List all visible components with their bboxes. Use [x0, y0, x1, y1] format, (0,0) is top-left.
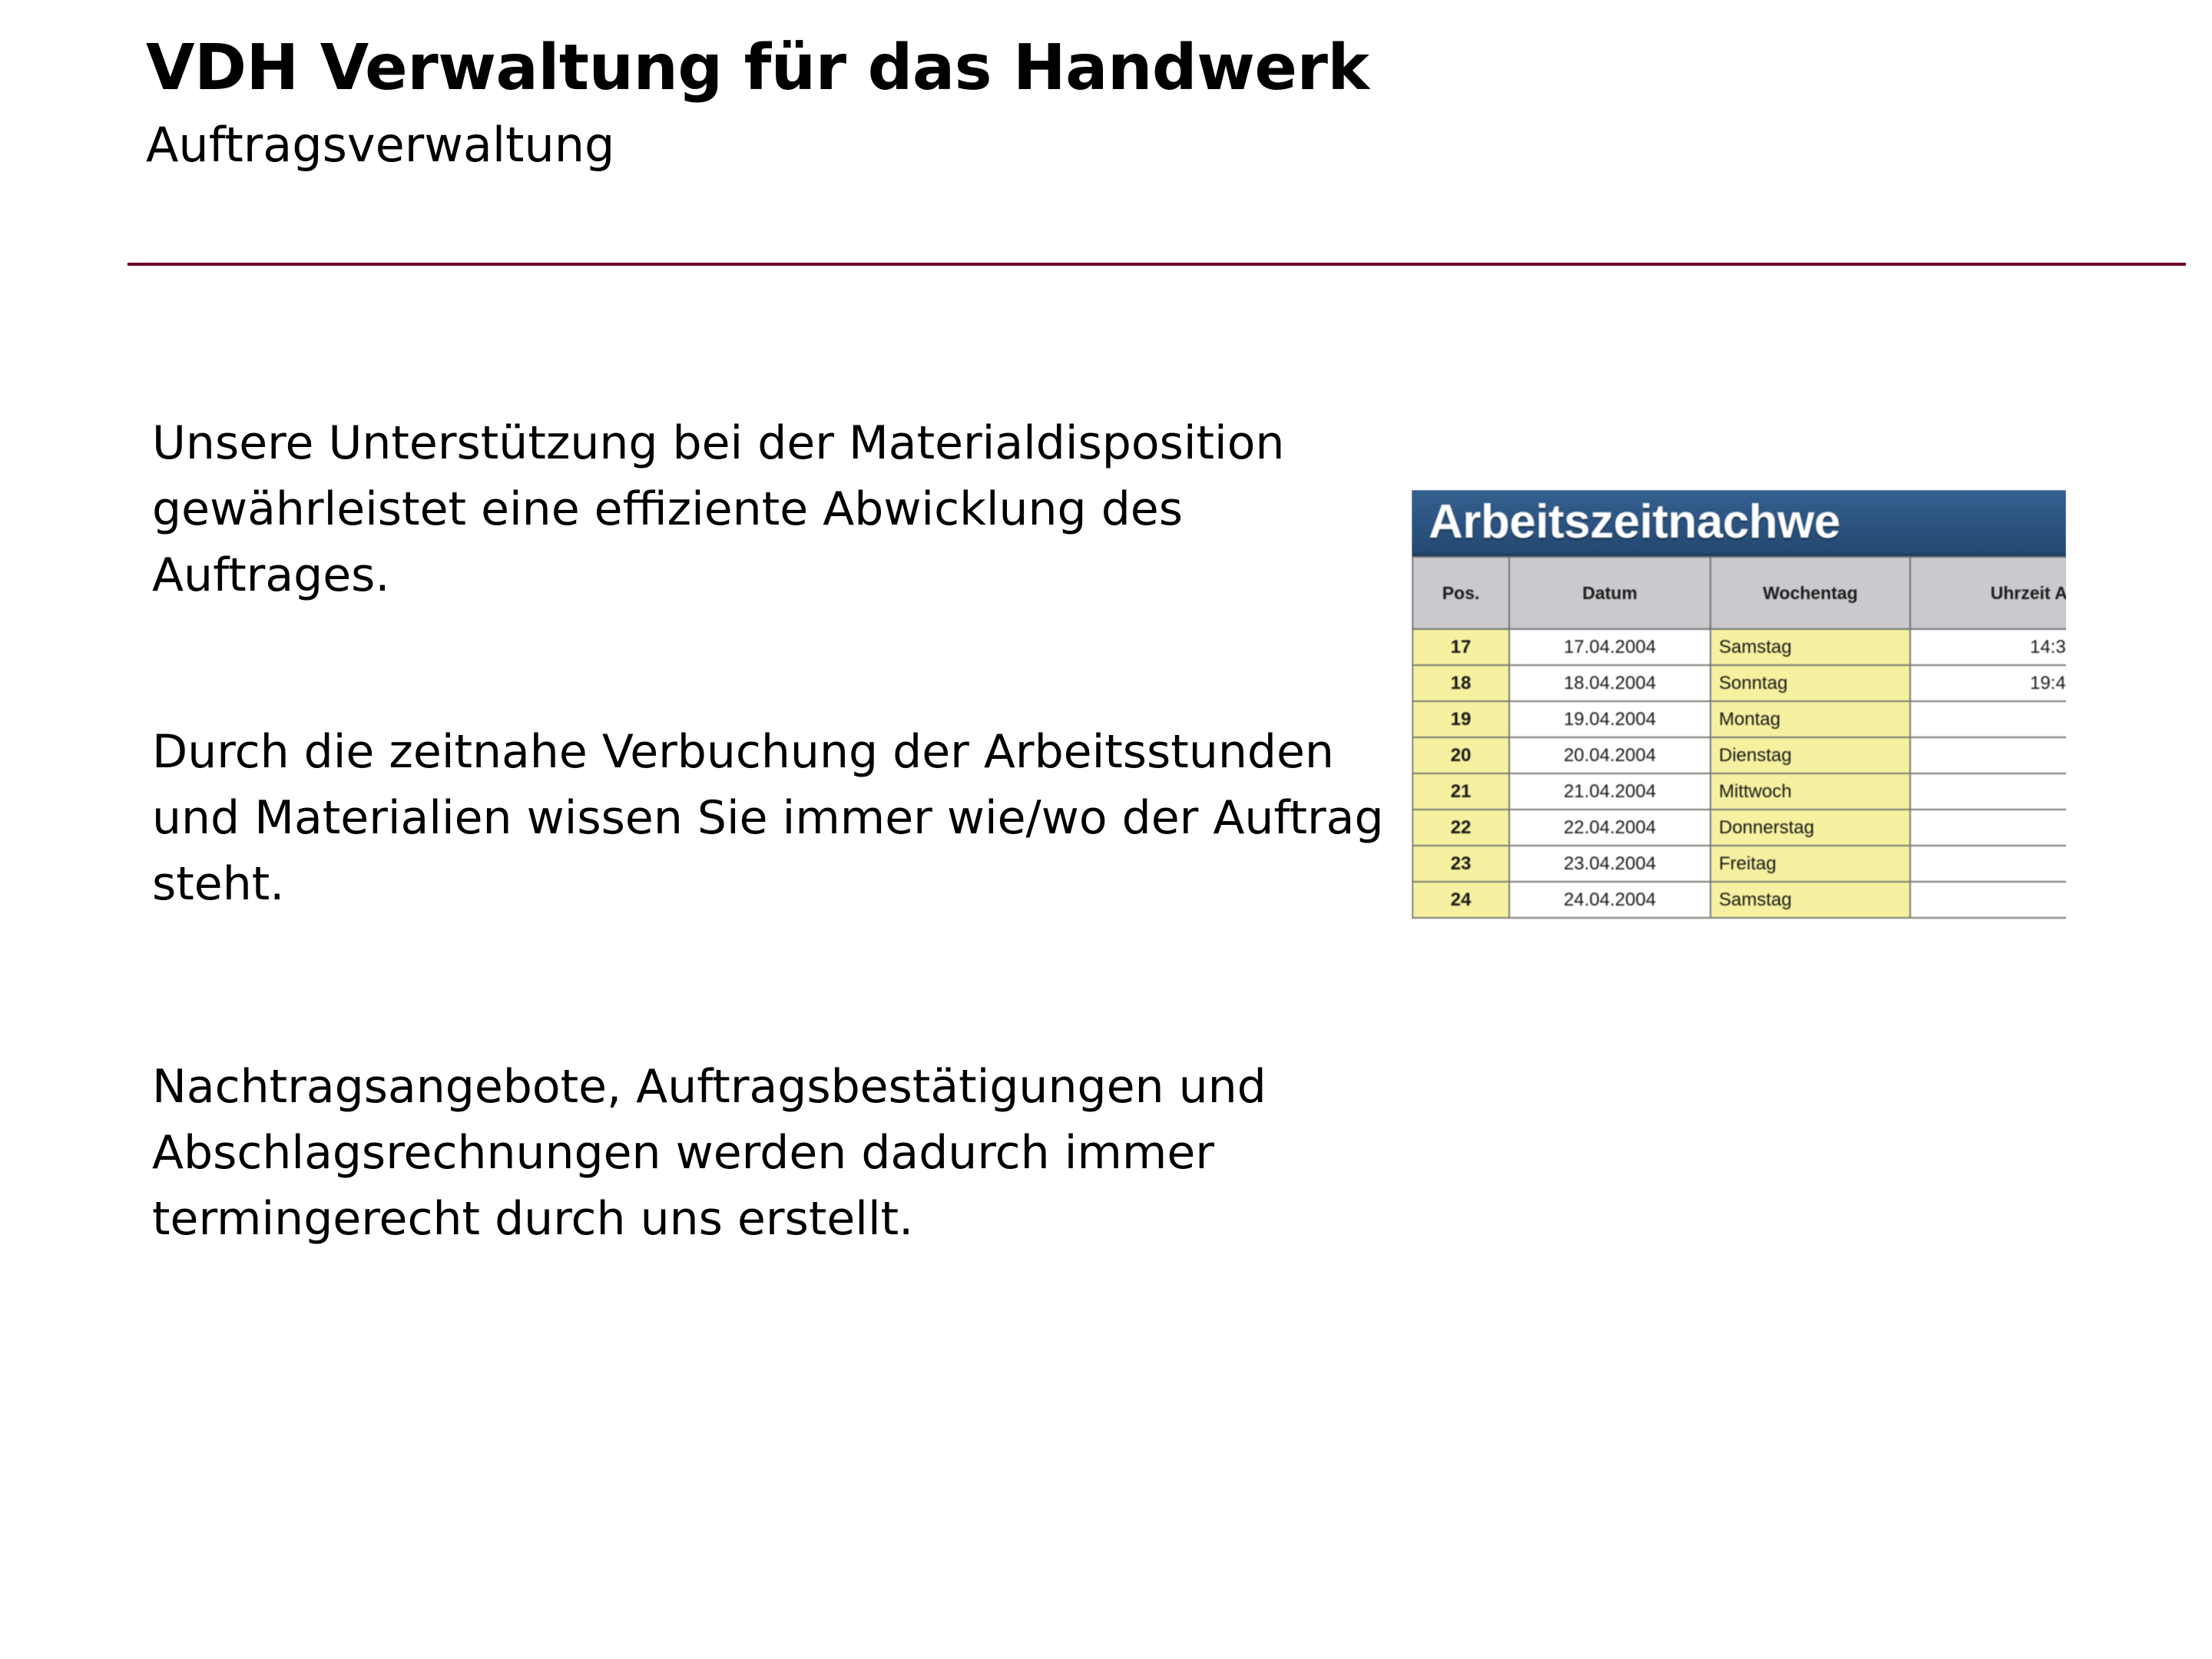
table-row: 2121.04.2004Mittwoch	[1412, 773, 2066, 810]
cell-pos: 23	[1412, 846, 1509, 882]
timesheet-table: Pos. Datum Wochentag Uhrzeit Anfang 1717…	[1412, 556, 2066, 919]
cell-datum: 20.04.2004	[1509, 737, 1710, 773]
cell-datum: 18.04.2004	[1509, 665, 1710, 701]
cell-wochentag: Mittwoch	[1710, 773, 1910, 810]
table-row: 1818.04.2004Sonntag19:45	[1412, 665, 2066, 701]
cell-wochentag: Freitag	[1710, 846, 1910, 882]
slide-header: VDH Verwaltung für das Handwerk Auftrags…	[146, 35, 2066, 171]
column-header-uhrzeit: Uhrzeit Anfang	[1910, 557, 2066, 629]
cell-datum: 19.04.2004	[1509, 701, 1710, 737]
cell-uhrzeit: 19:45	[1910, 665, 2066, 701]
body-paragraph-1: Unsere Unterstützung bei der Materialdis…	[152, 410, 1419, 608]
table-row: 2020.04.2004Dienstag	[1412, 737, 2066, 773]
cell-datum: 24.04.2004	[1509, 882, 1710, 918]
timesheet-banner: Arbeitszeitnachwe	[1412, 490, 2066, 556]
cell-datum: 21.04.2004	[1509, 773, 1710, 810]
cell-pos: 21	[1412, 773, 1509, 810]
cell-pos: 24	[1412, 882, 1509, 918]
table-row: 2323.04.2004Freitag	[1412, 846, 2066, 882]
table-row: 2222.04.2004Donnerstag	[1412, 810, 2066, 846]
cell-pos: 22	[1412, 810, 1509, 846]
timesheet-header-row: Pos. Datum Wochentag Uhrzeit Anfang	[1412, 557, 2066, 629]
cell-pos: 20	[1412, 737, 1509, 773]
timesheet-screenshot: Arbeitszeitnachwe Pos. Datum Wochentag U…	[1412, 490, 2066, 923]
table-row: 1717.04.2004Samstag14:31	[1412, 629, 2066, 665]
cell-wochentag: Montag	[1710, 701, 1910, 737]
cell-wochentag: Dienstag	[1710, 737, 1910, 773]
cell-uhrzeit	[1910, 882, 2066, 918]
page-title: VDH Verwaltung für das Handwerk	[146, 35, 2066, 102]
page-subtitle: Auftragsverwaltung	[146, 119, 2066, 171]
cell-datum: 17.04.2004	[1509, 629, 1710, 665]
table-row: 2424.04.2004Samstag	[1412, 882, 2066, 918]
cell-uhrzeit	[1910, 846, 2066, 882]
timesheet-blur-wrapper: Arbeitszeitnachwe Pos. Datum Wochentag U…	[1412, 490, 2066, 919]
cell-pos: 19	[1412, 701, 1509, 737]
cell-wochentag: Samstag	[1710, 882, 1910, 918]
cell-pos: 17	[1412, 629, 1509, 665]
cell-datum: 23.04.2004	[1509, 846, 1710, 882]
cell-wochentag: Samstag	[1710, 629, 1910, 665]
cell-uhrzeit	[1910, 773, 2066, 810]
column-header-datum: Datum	[1509, 557, 1710, 629]
cell-uhrzeit	[1910, 737, 2066, 773]
table-row: 1919.04.2004Montag	[1412, 701, 2066, 737]
body-paragraph-3: Nachtragsangebote, Auftragsbestätigungen…	[152, 1054, 1419, 1252]
column-header-wochentag: Wochentag	[1710, 557, 1910, 629]
column-header-pos: Pos.	[1412, 557, 1509, 629]
cell-uhrzeit	[1910, 810, 2066, 846]
cell-pos: 18	[1412, 665, 1509, 701]
header-divider	[127, 263, 2186, 266]
body-paragraph-2: Durch die zeitnahe Verbuchung der Arbeit…	[152, 719, 1419, 917]
cell-wochentag: Donnerstag	[1710, 810, 1910, 846]
cell-datum: 22.04.2004	[1509, 810, 1710, 846]
cell-wochentag: Sonntag	[1710, 665, 1910, 701]
cell-uhrzeit	[1910, 701, 2066, 737]
cell-uhrzeit: 14:31	[1910, 629, 2066, 665]
timesheet-banner-title: Arbeitszeitnachwe	[1429, 495, 1840, 549]
timesheet-body: 1717.04.2004Samstag14:311818.04.2004Sonn…	[1412, 629, 2066, 918]
